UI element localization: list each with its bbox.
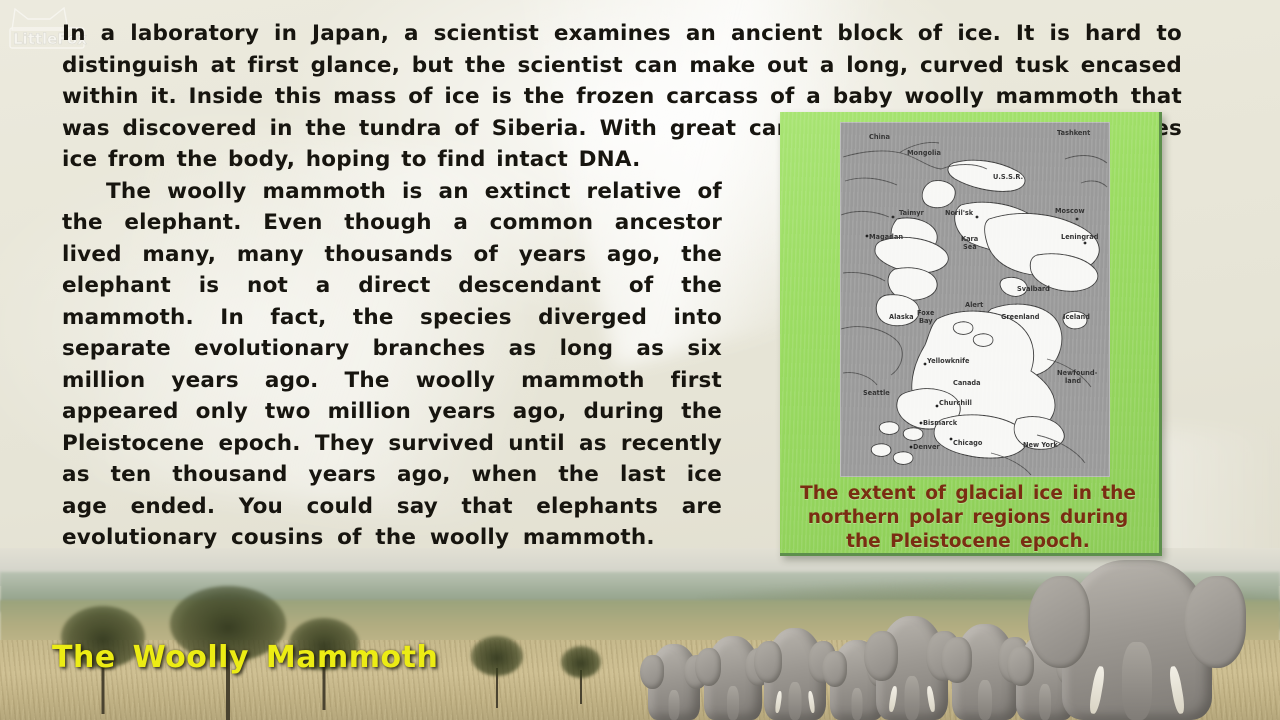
svg-text:land: land [1065, 377, 1081, 385]
svg-text:Newfound-: Newfound- [1057, 369, 1098, 377]
svg-text:Tashkent: Tashkent [1057, 129, 1090, 137]
svg-text:Sea: Sea [963, 243, 977, 251]
glacial-ice-map: China Mongolia U.S.S.R. Tashkent Taimyr … [840, 122, 1110, 477]
svg-text:Bay: Bay [919, 317, 933, 325]
elephant [648, 644, 700, 720]
lesson-title: The Woolly Mammoth [52, 640, 438, 675]
svg-text:Mongolia: Mongolia [907, 149, 941, 157]
svg-text:Bismarck: Bismarck [923, 419, 958, 427]
svg-text:Leningrad: Leningrad [1061, 233, 1099, 241]
svg-text:Seattle: Seattle [863, 389, 890, 397]
svg-text:Canada: Canada [953, 379, 981, 387]
elephant [876, 616, 948, 720]
svg-text:Alert: Alert [965, 301, 983, 309]
svg-text:Kara: Kara [961, 235, 978, 243]
elephant-foreground [1062, 560, 1212, 720]
figure-caption: The extent of glacial ice in the norther… [788, 482, 1148, 554]
savanna-elephant-photo [0, 548, 1280, 720]
svg-text:Moscow: Moscow [1055, 207, 1085, 215]
svg-text:Noril'sk: Noril'sk [945, 209, 974, 217]
svg-text:Denver: Denver [913, 443, 940, 451]
svg-text:Magadan: Magadan [869, 233, 903, 241]
svg-text:Foxe: Foxe [917, 309, 935, 317]
svg-text:Alaska: Alaska [889, 313, 914, 321]
svg-text:Taimyr: Taimyr [899, 209, 925, 217]
figure-card: China Mongolia U.S.S.R. Tashkent Taimyr … [780, 112, 1162, 556]
svg-text:China: China [869, 133, 890, 141]
acacia-tree [560, 642, 602, 704]
svg-text:Chicago: Chicago [953, 439, 983, 447]
acacia-tree [470, 632, 524, 708]
lesson-slide: LittleFox In a laboratory in Japan, a sc… [0, 0, 1280, 720]
svg-text:New York: New York [1023, 441, 1058, 449]
elephant [704, 636, 762, 720]
svg-text:Svalbard: Svalbard [1017, 285, 1050, 293]
map-svg: China Mongolia U.S.S.R. Tashkent Taimyr … [841, 123, 1109, 476]
elephant [764, 628, 826, 720]
paragraph-2: The woolly mammoth is an extinct relativ… [62, 176, 722, 554]
svg-text:Churchill: Churchill [939, 399, 972, 407]
svg-text:Yellowknife: Yellowknife [926, 357, 970, 365]
svg-text:Greenland: Greenland [1001, 313, 1040, 321]
svg-text:Iceland: Iceland [1063, 313, 1090, 321]
svg-text:U.S.S.R.: U.S.S.R. [993, 173, 1023, 181]
